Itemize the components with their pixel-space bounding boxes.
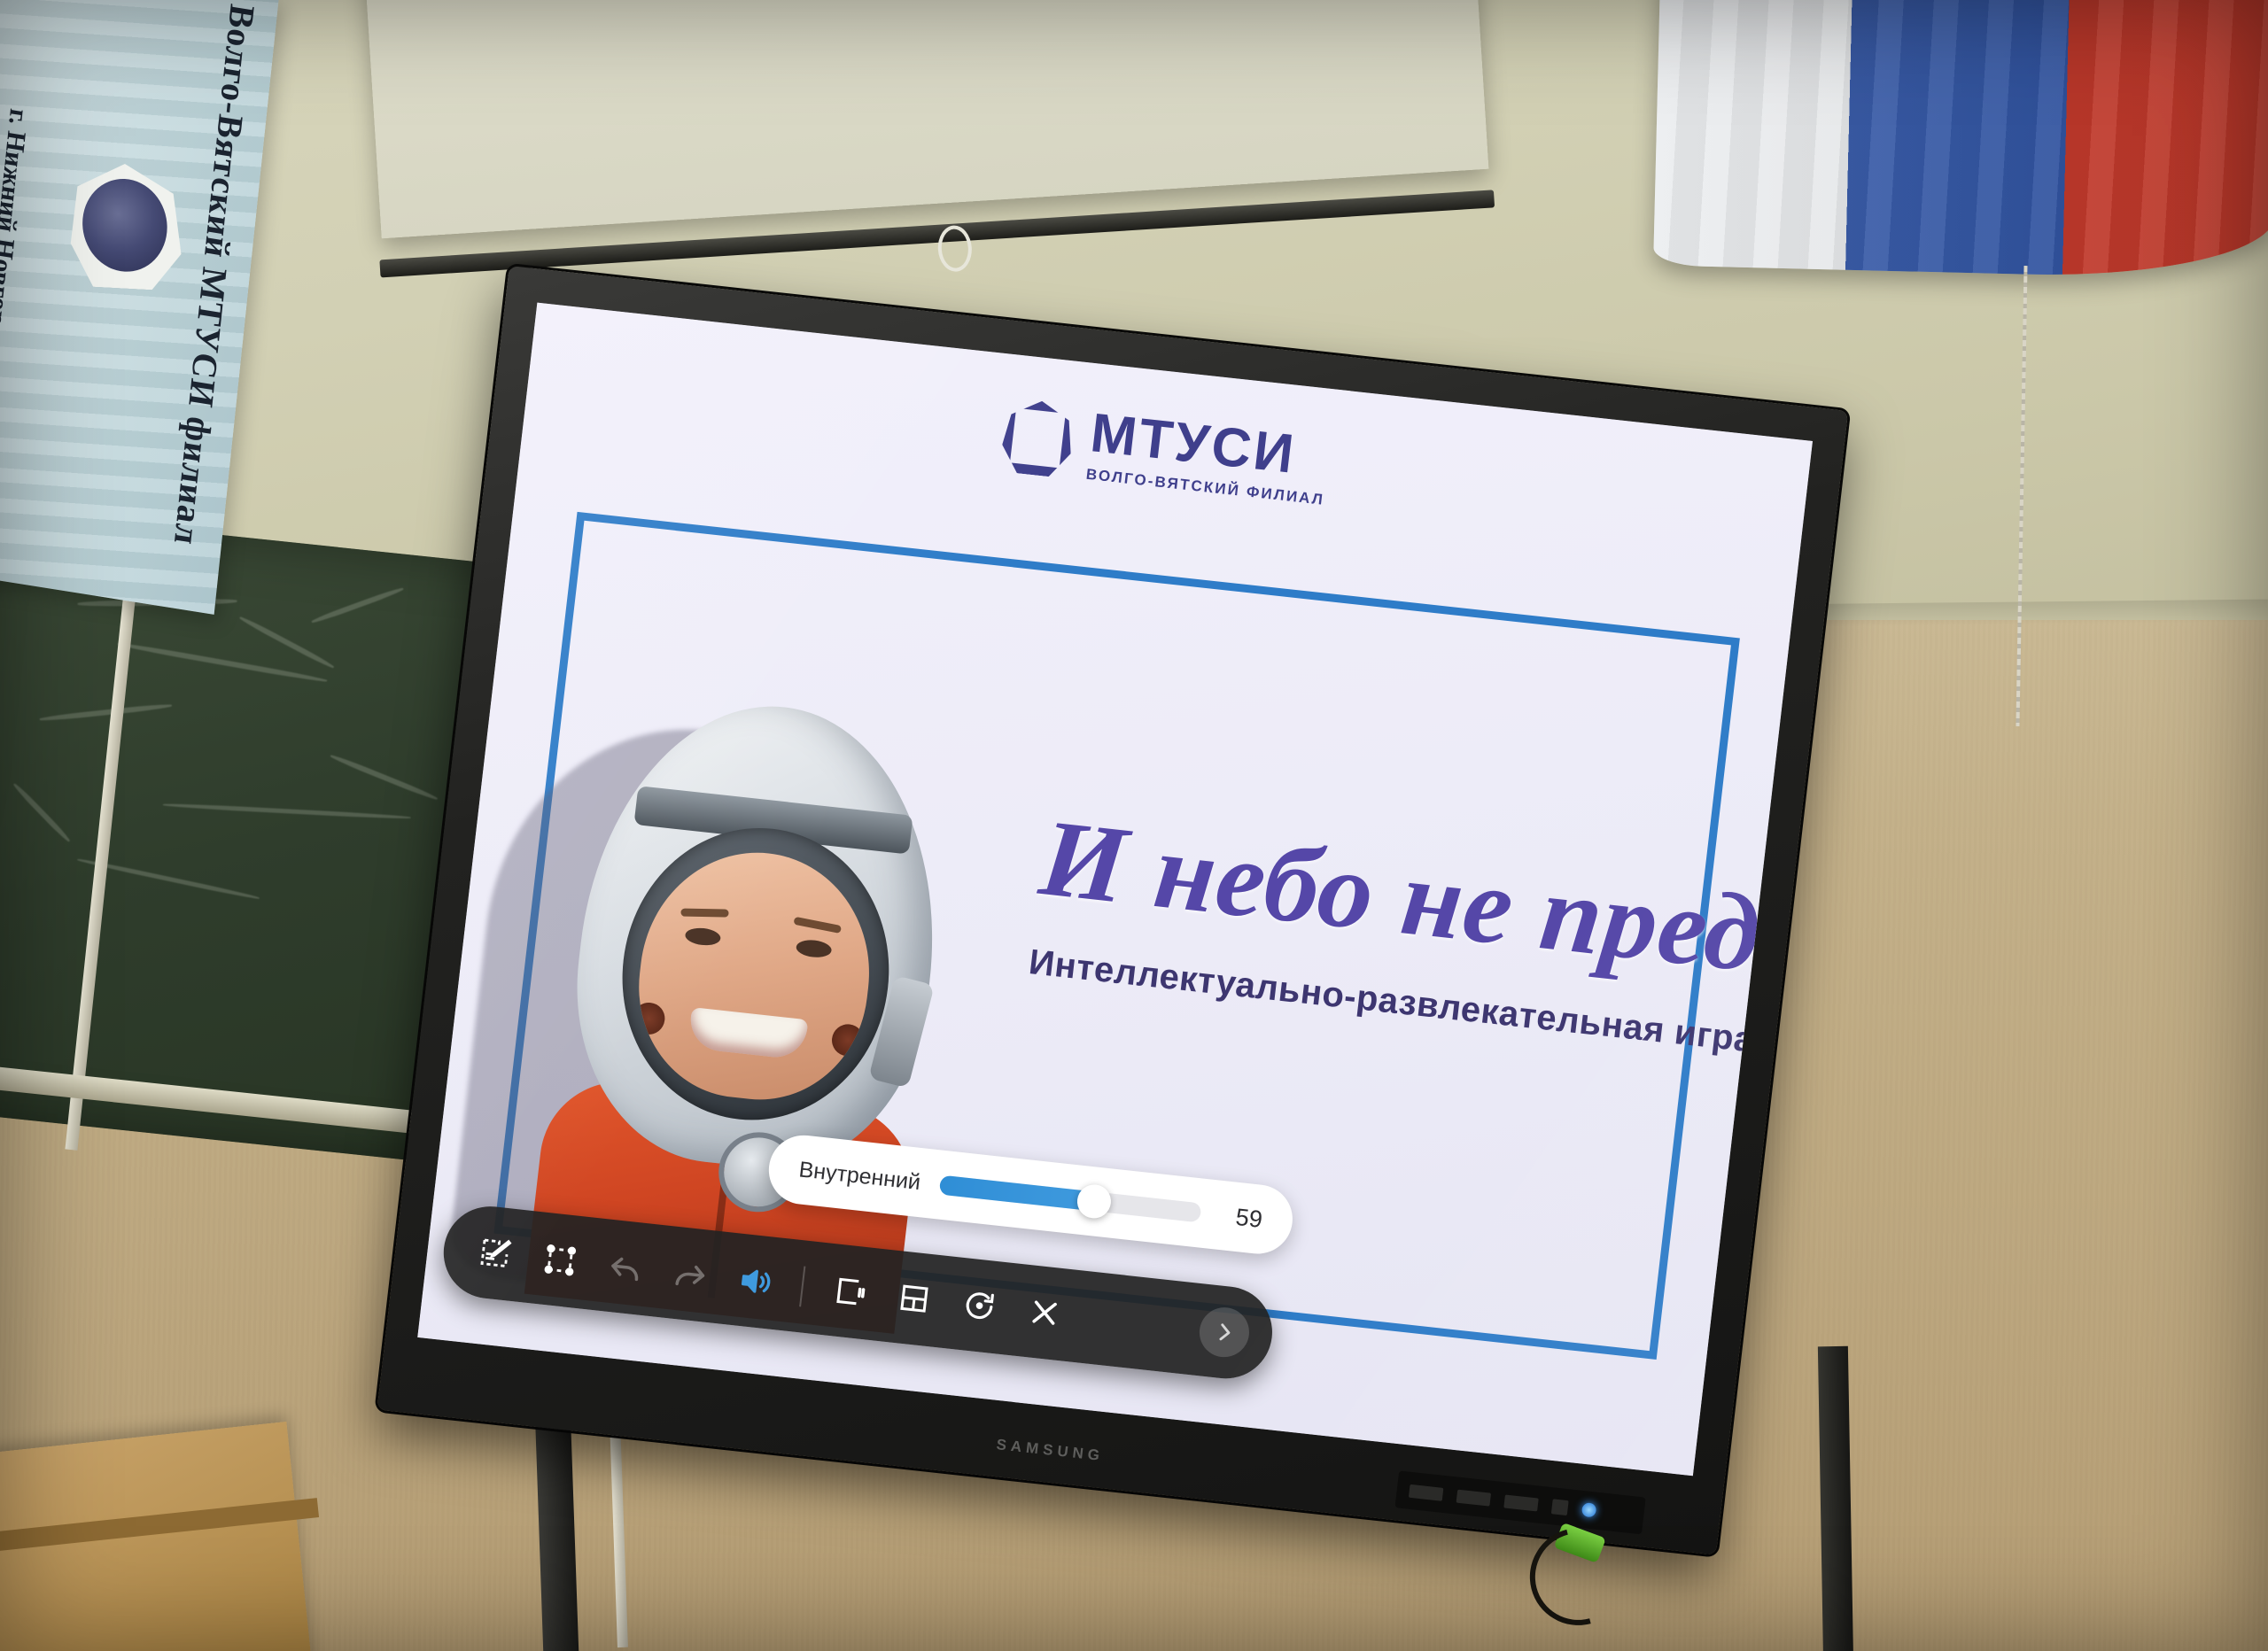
display-screen[interactable]: МТУСИ ВОЛГО-ВЯТСКИЙ ФИЛИАЛ <box>417 303 1813 1477</box>
display-bezel: МТУСИ ВОЛГО-ВЯТСКИЙ ФИЛИАЛ <box>377 266 1849 1555</box>
russian-flag <box>1653 0 2268 281</box>
freeze-screen-icon[interactable] <box>818 1260 881 1322</box>
classroom-scene: Волго-Вятский МТУСИ филиал г. Нижний Нов… <box>0 0 2268 1651</box>
display-brand-logo: SAMSUNG <box>996 1436 1105 1465</box>
volume-slider[interactable] <box>938 1175 1201 1223</box>
redo-icon[interactable] <box>659 1243 722 1305</box>
expand-chevron-icon[interactable] <box>1197 1305 1252 1360</box>
undo-icon[interactable] <box>594 1236 656 1298</box>
power-led <box>1581 1502 1597 1518</box>
hdmi-port <box>1503 1494 1539 1511</box>
mtusi-logo: МТУСИ ВОЛГО-ВЯТСКИЙ ФИЛИАЛ <box>999 397 1332 508</box>
select-region-icon[interactable] <box>529 1229 592 1291</box>
volume-slider-knob[interactable] <box>1075 1182 1112 1220</box>
heptagon-logo-mark <box>999 398 1076 479</box>
presentation-slide: МТУСИ ВОЛГО-ВЯТСКИЙ ФИЛИАЛ <box>417 303 1813 1477</box>
hdmi-port <box>1409 1484 1444 1500</box>
volume-source-label: Внутренний <box>797 1157 921 1196</box>
interactive-display[interactable]: МТУСИ ВОЛГО-ВЯТСКИЙ ФИЛИАЛ <box>377 266 1849 1555</box>
display-stand-right-post <box>1818 1346 1853 1651</box>
volume-icon[interactable] <box>725 1250 788 1312</box>
close-icon[interactable] <box>1014 1282 1076 1344</box>
volume-value: 59 <box>1218 1201 1263 1233</box>
hdmi-port <box>1456 1489 1492 1506</box>
volume-slider-fill <box>938 1175 1094 1212</box>
usb-port <box>1551 1499 1569 1515</box>
toolbar-separator <box>799 1266 805 1306</box>
mtusi-emblem <box>68 161 181 291</box>
banner-line-2: г. Нижний Новгород <box>0 106 34 353</box>
split-screen-icon[interactable] <box>883 1267 946 1329</box>
screen-record-icon[interactable] <box>948 1275 1011 1337</box>
annotate-icon[interactable] <box>463 1221 526 1283</box>
